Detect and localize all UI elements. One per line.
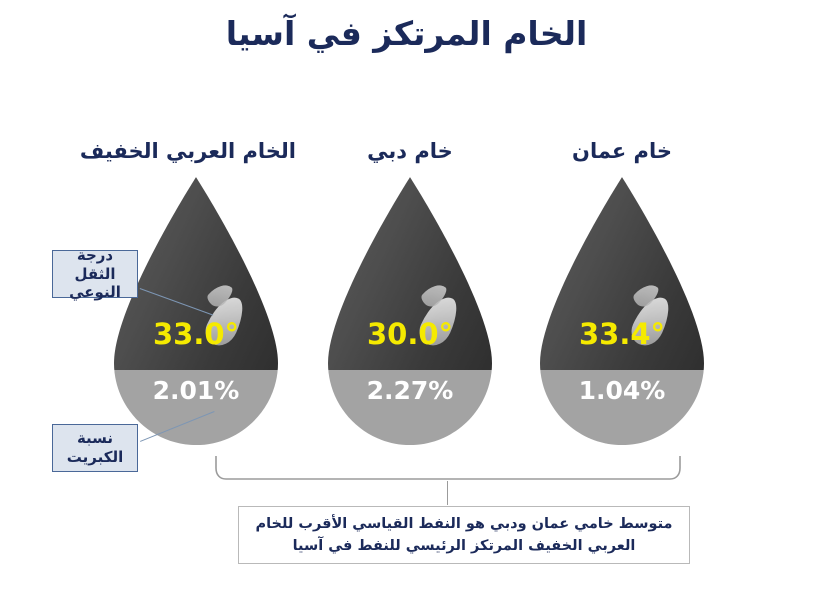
api-gravity-value-arab-light: 33.0° (114, 317, 278, 351)
page-title: الخام المرتكز في آسيا (0, 14, 813, 53)
api-gravity-value-dubai: 30.0° (328, 317, 492, 351)
drop-label-oman: خام عمان (522, 140, 722, 163)
sulfur-value-dubai: 2.27% (328, 376, 492, 405)
caption-box: متوسط خامي عمان ودبي هو النفط القياسي ال… (238, 506, 690, 564)
api-gravity-value-oman: 33.4° (540, 317, 704, 351)
droplet-oman: 33.4° 1.04% (540, 177, 704, 445)
sulfur-value-oman: 1.04% (540, 376, 704, 405)
drop-label-arab-light: الخام العربي الخفيف (96, 140, 296, 163)
infographic-canvas: الخام المرتكز في آسيا الخام العربي الخفي… (0, 0, 813, 593)
callout-sulfur-percentage: نسبة الكبريت (52, 424, 138, 472)
droplet-arab-light: 33.0° 2.01% (114, 177, 278, 445)
droplet-dubai: 30.0° 2.27% (328, 177, 492, 445)
callout-api-gravity: درجة الثقل النوعي (52, 250, 138, 298)
drop-column-dubai: خام دبي 30.0° 2.27% (310, 140, 510, 445)
bracket-stem (447, 481, 448, 505)
span-bracket-icon (214, 456, 682, 482)
sulfur-value-arab-light: 2.01% (114, 376, 278, 405)
drop-label-dubai: خام دبي (310, 140, 510, 163)
drop-column-oman: خام عمان 33.4° 1.04% (522, 140, 722, 445)
